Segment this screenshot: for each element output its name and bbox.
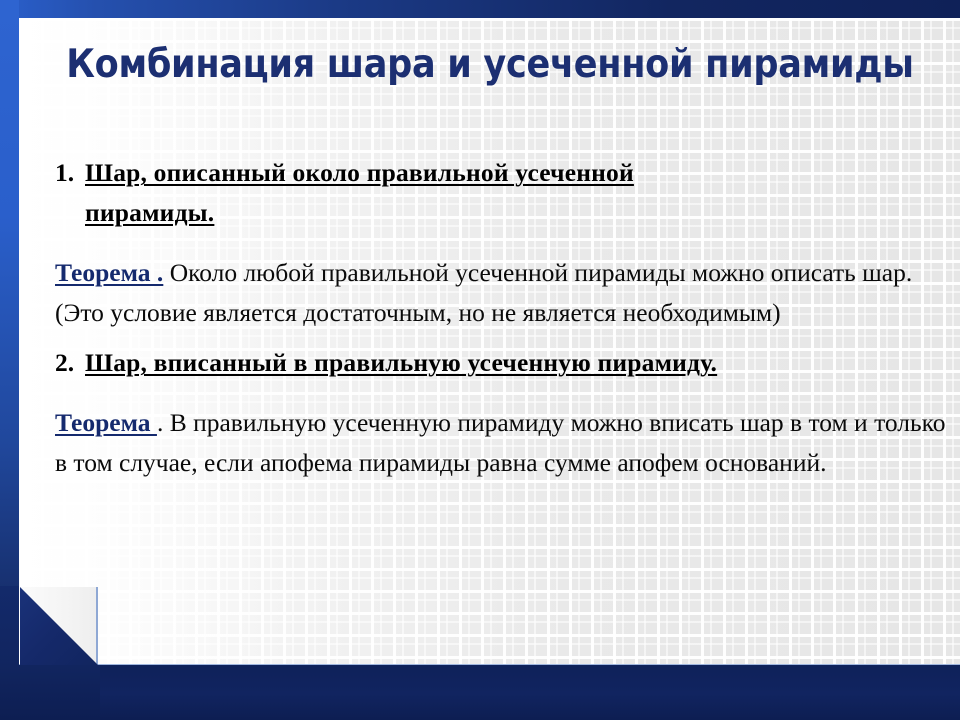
frame-bottom-band [0,662,960,720]
list-item-marker: 1. [37,153,85,193]
spacer [37,335,957,343]
theorem-text: Около любой правильной усеченной пирамид… [55,258,912,327]
list-item: 2. Шар, вписанный в правильную усеченную… [37,343,957,383]
theorem-label: Теорема [55,408,157,437]
theorem-label: Теорема . [55,258,163,287]
theorem-paragraph-1: Теорема . Около любой правильной усеченн… [37,253,957,333]
slide-body: 1. Шар, описанный около правильной усече… [37,153,957,485]
list-item-marker: 2. [37,343,85,383]
spacer [37,389,957,403]
frame-top-band [0,0,960,18]
theorem-paragraph-2: Теорема . В правильную усеченную пирамид… [37,403,957,483]
spacer [37,239,957,253]
list-item-heading: Шар, описанный около правильной усеченно… [85,153,685,233]
theorem-text: . В правильную усеченную пирамиду можно … [55,408,946,477]
list-item-heading: Шар, вписанный в правильную усеченную пи… [85,343,957,383]
slide-canvas: Комбинация шара и усеченной пирамиды 1. … [0,0,960,720]
page-title: Комбинация шара и усеченной пирамиды [59,40,921,90]
list-item: 1. Шар, описанный около правильной усече… [37,153,957,233]
slide-content: Комбинация шара и усеченной пирамиды 1. … [19,18,960,664]
